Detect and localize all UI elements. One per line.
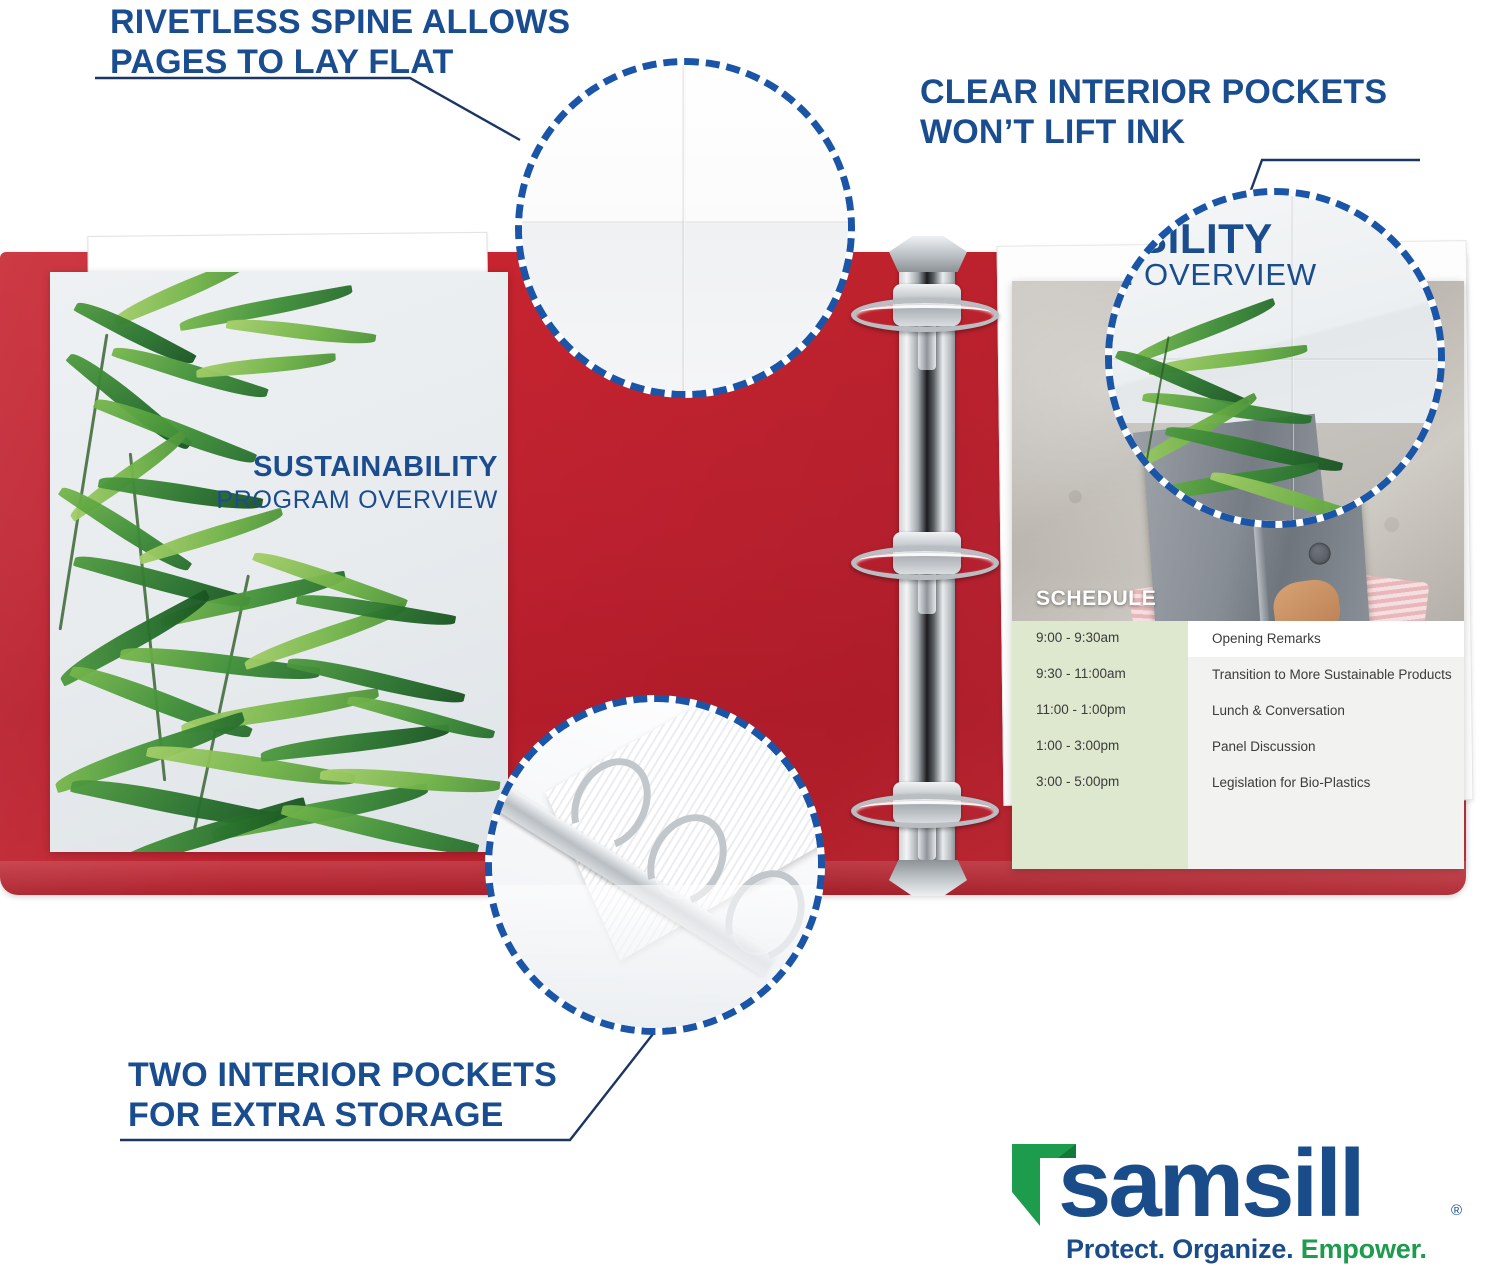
magnified-interior-pocket	[492, 885, 818, 1028]
binder-ring-1	[851, 298, 999, 332]
table-row: 11:00 - 1:00pm Lunch & Conversation	[1012, 693, 1464, 729]
magnifier-3-content	[492, 702, 818, 1028]
tagline-green-part: Empower.	[1301, 1234, 1427, 1264]
bamboo-illustration	[50, 272, 508, 852]
callout-clear-pockets: CLEAR INTERIOR POCKETS WON’T LIFT INK	[920, 72, 1387, 152]
schedule-heading: SCHEDULE	[1036, 587, 1156, 611]
samsill-wordmark: samsill	[1058, 1136, 1363, 1232]
leader-line-top-left	[95, 78, 520, 140]
left-page-title: SUSTAINABILITY	[198, 452, 498, 482]
schedule-time: 11:00 - 1:00pm	[1012, 693, 1188, 729]
table-row: 1:00 - 3:00pm Panel Discussion	[1012, 729, 1464, 765]
left-page-cover-sheet: SUSTAINABILITY PROGRAM OVERVIEW	[50, 272, 508, 852]
magnifier-clear-pockets: ABILITY M OVERVIEW	[1105, 188, 1445, 528]
magnifier-lay-flat-spine	[515, 58, 855, 398]
samsill-tagline: Protect. Organize. Empower.	[1066, 1234, 1427, 1265]
samsill-logo: samsill ® Protect. Organize. Empower.	[1010, 1140, 1460, 1268]
ring-bottom-cap	[889, 860, 967, 896]
magnifier-interior-pockets	[485, 695, 825, 1035]
binder-ring-3	[851, 794, 999, 828]
binder-ring-2	[851, 546, 999, 580]
left-page-title-block: SUSTAINABILITY PROGRAM OVERVIEW	[198, 452, 498, 515]
left-page-subtitle: PROGRAM OVERVIEW	[198, 485, 498, 515]
magnifier-2-content: ABILITY M OVERVIEW	[1112, 195, 1438, 521]
callout-two-pockets: TWO INTERIOR POCKETS FOR EXTRA STORAGE	[128, 1055, 557, 1135]
schedule-item: Opening Remarks	[1188, 621, 1464, 657]
grey-binder-thumb-hole	[1308, 542, 1331, 565]
registered-trademark-icon: ®	[1451, 1202, 1462, 1219]
ring-mechanism	[855, 236, 995, 896]
schedule-time: 3:00 - 5:00pm	[1012, 765, 1188, 801]
schedule-filler	[1012, 801, 1464, 869]
schedule-table: 9:00 - 9:30am Opening Remarks 9:30 - 11:…	[1012, 621, 1464, 869]
schedule-item: Legislation for Bio-Plastics	[1188, 765, 1464, 801]
table-row: 9:00 - 9:30am Opening Remarks	[1012, 621, 1464, 657]
schedule-time: 1:00 - 3:00pm	[1012, 729, 1188, 765]
schedule-time: 9:30 - 11:00am	[1012, 657, 1188, 693]
tagline-blue-part: Protect. Organize.	[1066, 1234, 1301, 1264]
magnified-subtitle-fragment: M OVERVIEW	[1112, 257, 1317, 293]
magnified-title-fragment: ABILITY	[1112, 215, 1273, 263]
sheet-vertical-fold	[682, 65, 686, 391]
magnifier-1-content	[522, 65, 848, 391]
schedule-item: Panel Discussion	[1188, 729, 1464, 765]
schedule-item: Transition to More Sustainable Products	[1188, 657, 1464, 693]
schedule-item: Lunch & Conversation	[1188, 693, 1464, 729]
callout-rivetless-spine: RIVETLESS SPINE ALLOWS PAGES TO LAY FLAT	[110, 2, 570, 82]
table-row: 3:00 - 5:00pm Legislation for Bio-Plasti…	[1012, 765, 1464, 801]
product-feature-graphic: SUSTAINABILITY PROGRAM OVERVIEW SCHEDULE…	[0, 0, 1500, 1273]
schedule-time: 9:00 - 9:30am	[1012, 621, 1188, 657]
table-row: 9:30 - 11:00am Transition to More Sustai…	[1012, 657, 1464, 693]
ring-top-cap	[889, 236, 967, 272]
